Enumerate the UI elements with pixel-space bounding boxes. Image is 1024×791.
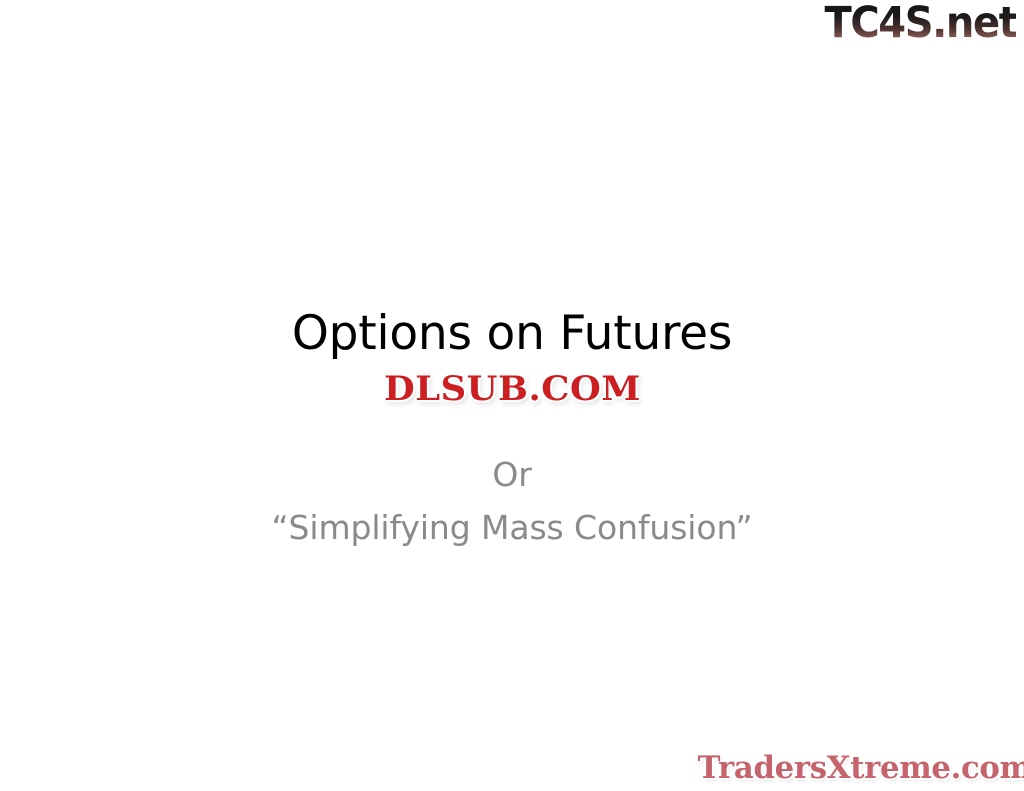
slide-title-block: Options on Futures <box>0 306 1024 361</box>
dlsub-watermark-text: DLSUB.COM <box>375 368 649 411</box>
tradersxtreme-watermark-text: TradersXtreme.com <box>698 751 1024 785</box>
slide-title: Options on Futures <box>292 306 732 361</box>
tradersxtreme-watermark: TradersXtreme.com <box>696 751 1016 785</box>
presentation-slide: TC4S.net Options on Futures DLSUB.COM Or… <box>0 0 1024 791</box>
slide-subtitle-block: Or “Simplifying Mass Confusion” <box>0 448 1024 555</box>
subtitle-line-or: Or <box>0 448 1024 501</box>
dlsub-watermark: DLSUB.COM <box>0 368 1024 411</box>
subtitle-line-tagline: “Simplifying Mass Confusion” <box>0 501 1024 554</box>
tc4s-logo-watermark: TC4S.net <box>822 2 1016 54</box>
tc4s-logo-text: TC4S.net <box>824 2 1016 45</box>
